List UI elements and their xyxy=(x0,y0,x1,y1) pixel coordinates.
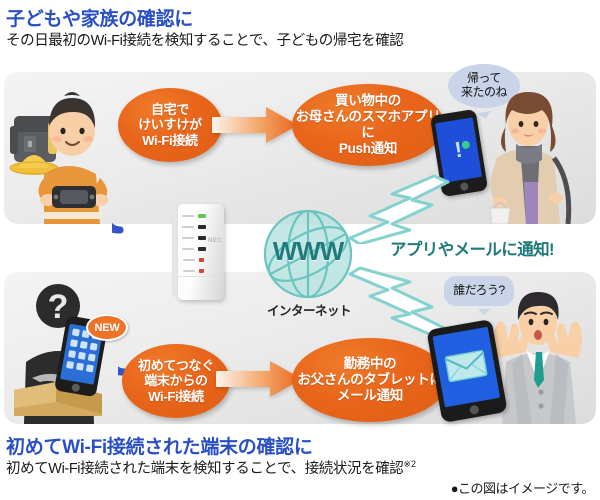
arrow-right-top-icon xyxy=(212,106,298,144)
lightning-up-icon xyxy=(348,172,468,244)
wifi-signal-top-icon xyxy=(112,172,174,234)
callout-line: Wi-Fi接続 xyxy=(138,133,202,149)
page-subtitle-bottom-text: 初めてWi-Fi接続された端末を検知することで、接続状況を確認 xyxy=(6,461,403,477)
router-led-warn1 xyxy=(199,258,204,262)
callout-line: 勤務中の xyxy=(297,356,442,372)
callout-line: お父さんのタブレットに xyxy=(297,372,442,388)
notification-notice-text: アプリやメールに通知! xyxy=(390,236,554,260)
wifi-router: NEC xyxy=(170,198,232,306)
callout-line: 端末からの xyxy=(138,373,214,389)
envelope-icon xyxy=(444,349,488,383)
router-body: NEC xyxy=(178,204,224,300)
callout-home-connection: 自宅で けいすけが Wi-Fi接続 xyxy=(118,88,222,162)
router-led-label xyxy=(183,270,195,272)
callout-line: けいすけが xyxy=(138,117,202,133)
callout-mail-notification: 勤務中の お父さんのタブレットに メール通知 xyxy=(292,338,448,422)
router-led-label xyxy=(182,215,194,217)
callout-line: 買い物中の xyxy=(292,93,444,109)
router-led-label xyxy=(182,226,194,228)
page-title-bottom: 初めてWi-Fi接続された端末の確認に xyxy=(6,432,313,459)
page-title-top: 子どもや家族の確認に xyxy=(6,4,193,31)
router-led-label xyxy=(182,237,194,239)
game-console-icon xyxy=(52,186,96,208)
exclamation-icon: ! xyxy=(446,135,472,164)
image-disclaimer-note: ●この図はイメージです。 xyxy=(451,478,594,497)
callout-first-time-connection: 初めてつなぐ 端末からの Wi-Fi接続 xyxy=(122,344,230,418)
woman-illustration xyxy=(476,86,594,224)
footnote-marker: ※2 xyxy=(403,459,416,469)
callout-line: メール通知 xyxy=(297,388,442,404)
arrow-right-bottom-icon xyxy=(216,360,302,398)
router-led-label xyxy=(183,259,195,261)
router-led-label xyxy=(182,248,194,250)
page-subtitle-bottom: 初めてWi-Fi接続された端末を検知することで、接続状況を確認※2 xyxy=(6,457,416,478)
callout-line: お母さんのスマホアプリに xyxy=(292,109,444,141)
page-subtitle-top: その日最初のWi-Fi接続を検知することで、子どもの帰宅を確認 xyxy=(6,29,403,50)
callout-push-notification: 買い物中の お母さんのスマホアプリに Push通知 xyxy=(292,84,444,166)
router-seam xyxy=(178,276,224,277)
router-led-warn2 xyxy=(199,269,204,273)
speech-line: 帰って xyxy=(461,72,507,86)
callout-line: 初めてつなぐ xyxy=(138,358,214,374)
router-led-converter xyxy=(198,247,206,251)
internet-label: インターネット xyxy=(258,300,360,319)
router-led-power xyxy=(198,214,206,218)
www-label: WWW xyxy=(262,236,354,267)
svg-text:?: ? xyxy=(48,288,69,326)
diagram-canvas: 子どもや家族の確認に その日最初のWi-Fi接続を検知することで、子どもの帰宅を… xyxy=(0,0,600,500)
callout-line: Push通知 xyxy=(292,141,444,157)
router-led-wireless xyxy=(198,236,206,240)
callout-line: Wi-Fi接続 xyxy=(138,389,214,405)
callout-line: 自宅で xyxy=(138,102,202,118)
router-brand-logo: NEC xyxy=(208,238,222,244)
router-led-active xyxy=(198,225,206,229)
